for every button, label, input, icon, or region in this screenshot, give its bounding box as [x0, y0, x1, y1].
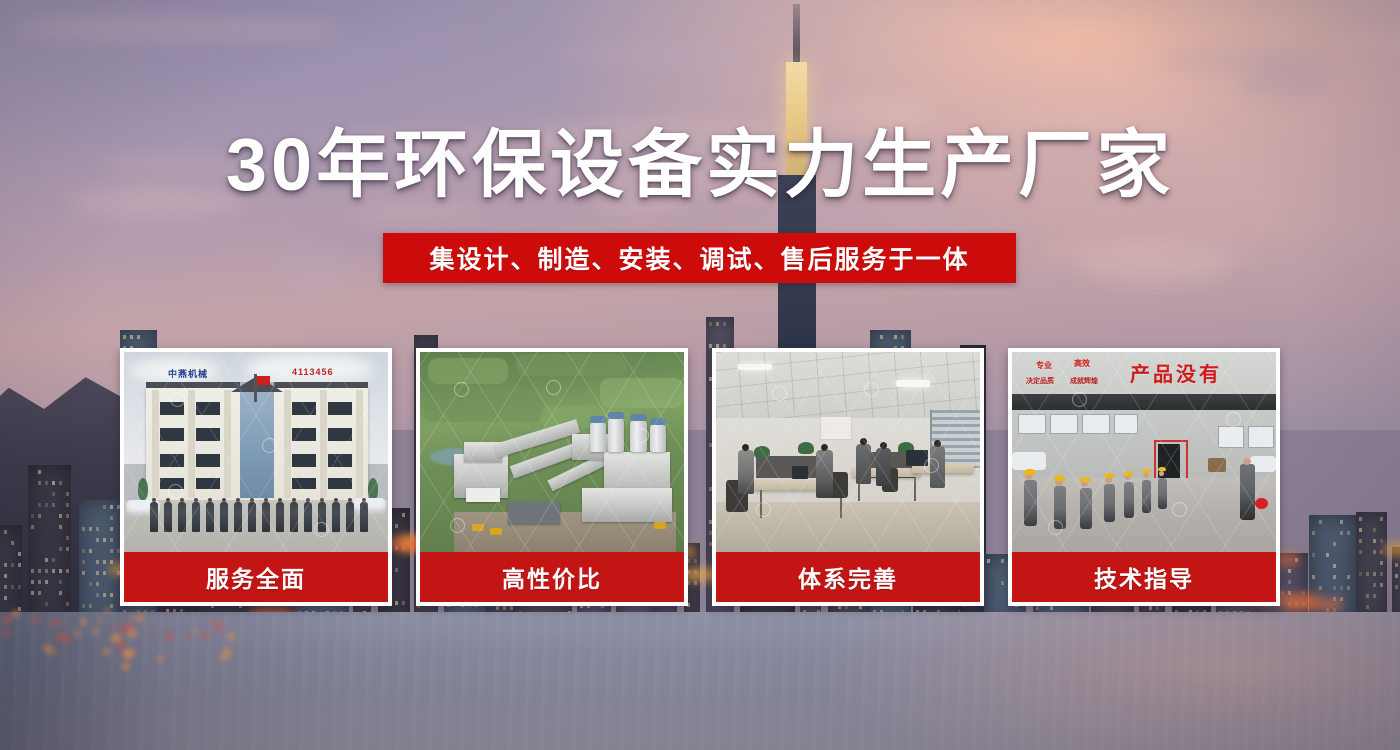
river-water [0, 612, 1400, 750]
card-caption-system: 体系完善 [716, 552, 980, 602]
plant-structures [454, 436, 676, 546]
hero-subtitle-text: 集设计、制造、安装、调试、售后服务于一体 [429, 240, 969, 276]
feature-card-service[interactable]: 中燕机械 4113456 服务全面 [120, 348, 392, 606]
card-photo-office-interior [716, 352, 980, 552]
factory-slogan-4: 成就辉煌 [1070, 376, 1098, 386]
card-photo-office-building: 中燕机械 4113456 [124, 352, 388, 552]
feature-card-system[interactable]: 体系完善 [712, 348, 984, 606]
hero-subtitle-banner: 集设计、制造、安装、调试、售后服务于一体 [383, 233, 1016, 283]
card-photo-plant-aerial [420, 352, 684, 552]
card-photo-factory-workers: 产品没有 专业 高效 决定品质 成就辉煌 [1012, 352, 1276, 552]
feature-card-value[interactable]: 高性价比 [416, 348, 688, 606]
factory-slogan-1: 专业 [1036, 360, 1052, 371]
building-sign-text: 中燕机械 [168, 367, 208, 380]
factory-slogan-3: 决定品质 [1026, 376, 1054, 386]
feature-card-guidance[interactable]: 产品没有 专业 高效 决定品质 成就辉煌 [1008, 348, 1280, 606]
building-phone-text: 4113456 [292, 367, 334, 377]
card-caption-guidance: 技术指导 [1012, 552, 1276, 602]
hero-headline: 30年环保设备实力生产厂家 [0, 128, 1400, 202]
hero-banner: 30年环保设备实力生产厂家 集设计、制造、安装、调试、售后服务于一体 [0, 0, 1400, 750]
factory-slogan-2: 高效 [1074, 358, 1090, 369]
card-caption-value: 高性价比 [420, 552, 684, 602]
factory-slogan-large: 产品没有 [1130, 358, 1222, 387]
feature-card-grid: 中燕机械 4113456 服务全面 [120, 348, 1280, 606]
card-caption-service: 服务全面 [124, 552, 388, 602]
